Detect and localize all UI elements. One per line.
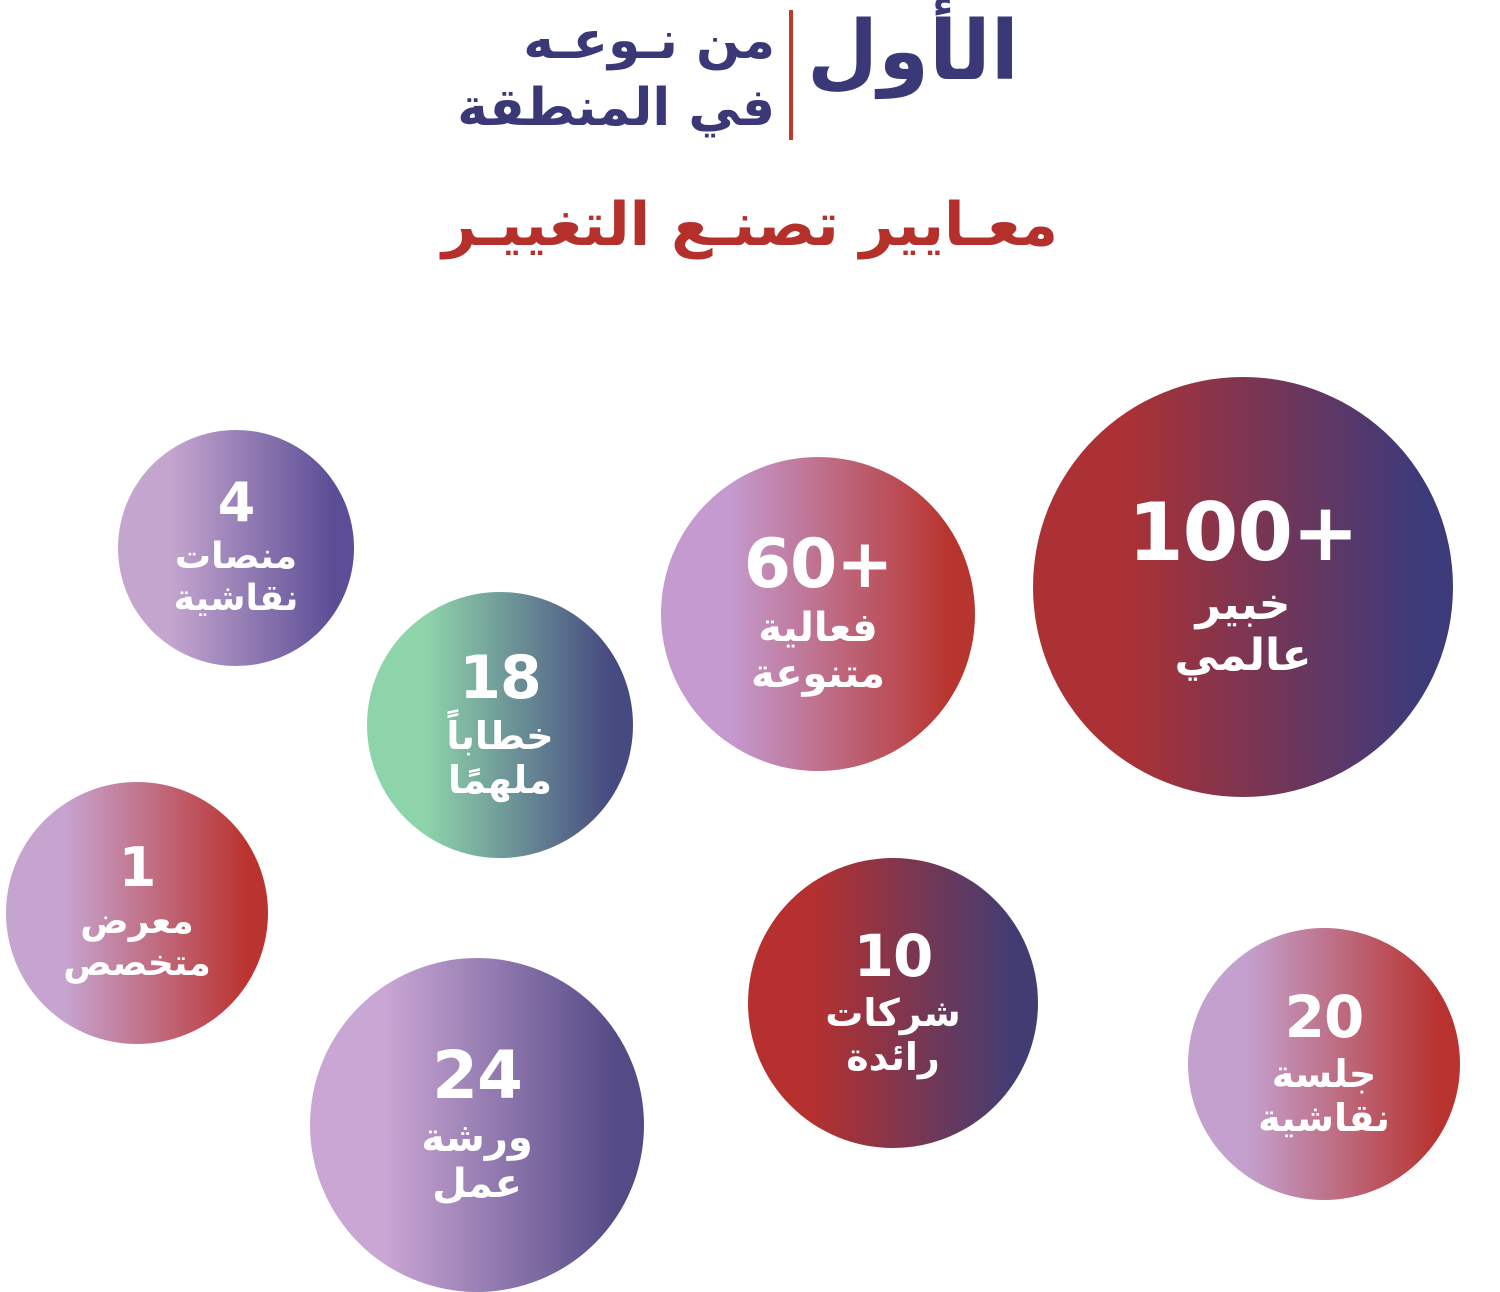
bubble-value: 24 [432, 1043, 522, 1109]
bubble-label-line-1: معرض [80, 901, 193, 943]
bubble-experts[interactable]: 100+خبير عالمي [1033, 377, 1453, 797]
bubble-value: 1 [119, 841, 156, 895]
bubble-label-line-1: فعالية متنوعة [751, 605, 885, 698]
bubble-speeches[interactable]: 18خطاباً ملهمًا [367, 592, 633, 858]
bubble-value: 4 [218, 476, 255, 530]
bubble-value: 60+ [744, 531, 893, 599]
bubble-label-line-1: منصات [175, 536, 297, 578]
bubble-companies[interactable]: 10شركات رائدة [748, 858, 1038, 1148]
bubble-label-line-2: متخصص [63, 943, 211, 985]
bubble-label-line-1: خطاباً ملهمًا [446, 714, 553, 802]
bubble-workshops[interactable]: 24ورشة عمل [310, 958, 644, 1292]
bubble-label-line-2: نقاشية [174, 578, 299, 620]
statistics-bubble-cluster: 4منصاتنقاشية18خطاباً ملهمًا60+فعالية متن… [0, 0, 1500, 1286]
bubble-platforms[interactable]: 4منصاتنقاشية [118, 430, 354, 666]
bubble-value: 18 [459, 648, 541, 708]
bubble-sessions[interactable]: 20جلسة نقاشية [1188, 928, 1460, 1200]
bubble-label-line-1: ورشة عمل [400, 1115, 554, 1208]
bubble-expo[interactable]: 1معرضمتخصص [6, 782, 268, 1044]
bubble-events[interactable]: 60+فعالية متنوعة [661, 457, 975, 771]
bubble-label-line-1: شركات رائدة [825, 991, 961, 1079]
bubble-value: 10 [854, 927, 933, 985]
bubble-label-line-1: خبير عالمي [1123, 579, 1363, 681]
bubble-value: 100+ [1128, 493, 1358, 573]
bubble-label-line-1: جلسة نقاشية [1258, 1052, 1390, 1140]
bubble-value: 20 [1285, 988, 1364, 1046]
